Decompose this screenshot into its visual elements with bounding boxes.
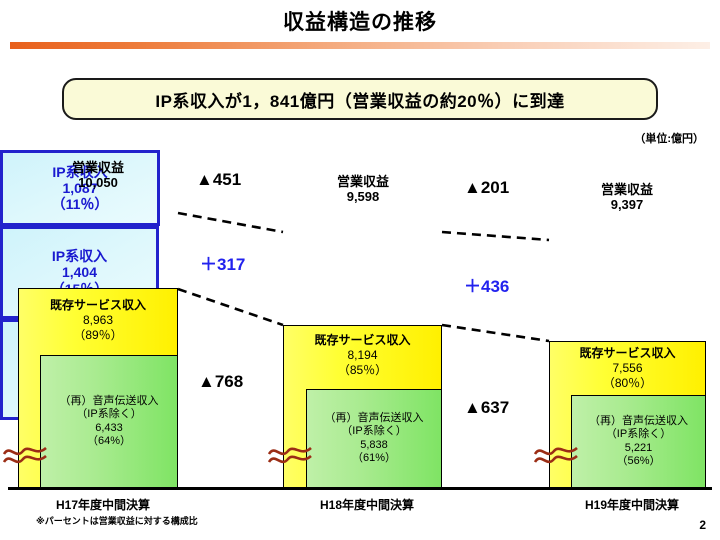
title-underline-rule xyxy=(10,42,710,49)
headline-callout-text: IP系収入が1，841億円（営業収益の約20％）に到達 xyxy=(155,87,564,112)
page-number: 2 xyxy=(699,518,706,532)
footnote: ※パーセントは営業収益に対する構成比 xyxy=(36,514,198,527)
delta-1-total: ▲451 xyxy=(196,170,241,190)
x-label-2: H18年度中間決算 xyxy=(272,496,462,513)
delta-1-existing: ▲768 xyxy=(198,372,243,392)
delta-2-ip: ＋436 xyxy=(464,272,509,297)
unit-note: （単位:億円） xyxy=(634,130,704,146)
baseline-axis xyxy=(8,487,712,490)
connector-lines xyxy=(0,150,720,490)
chart-plot-area: 営業収益 10,050 （再）音声伝送収入 （IP系除く） 6,433 （64%… xyxy=(0,150,720,490)
x-label-3: H19年度中間決算 xyxy=(537,496,720,513)
x-label-1: H17年度中間決算 xyxy=(8,496,198,513)
slide-root: 収益構造の推移 IP系収入が1，841億円（営業収益の約20％）に到達 （単位:… xyxy=(0,0,720,540)
delta-2-total: ▲201 xyxy=(464,178,509,198)
headline-callout: IP系収入が1，841億円（営業収益の約20％）に到達 xyxy=(62,78,658,120)
page-title: 収益構造の推移 xyxy=(0,6,720,36)
delta-2-existing: ▲637 xyxy=(464,398,509,418)
delta-1-ip: ＋317 xyxy=(200,250,245,275)
